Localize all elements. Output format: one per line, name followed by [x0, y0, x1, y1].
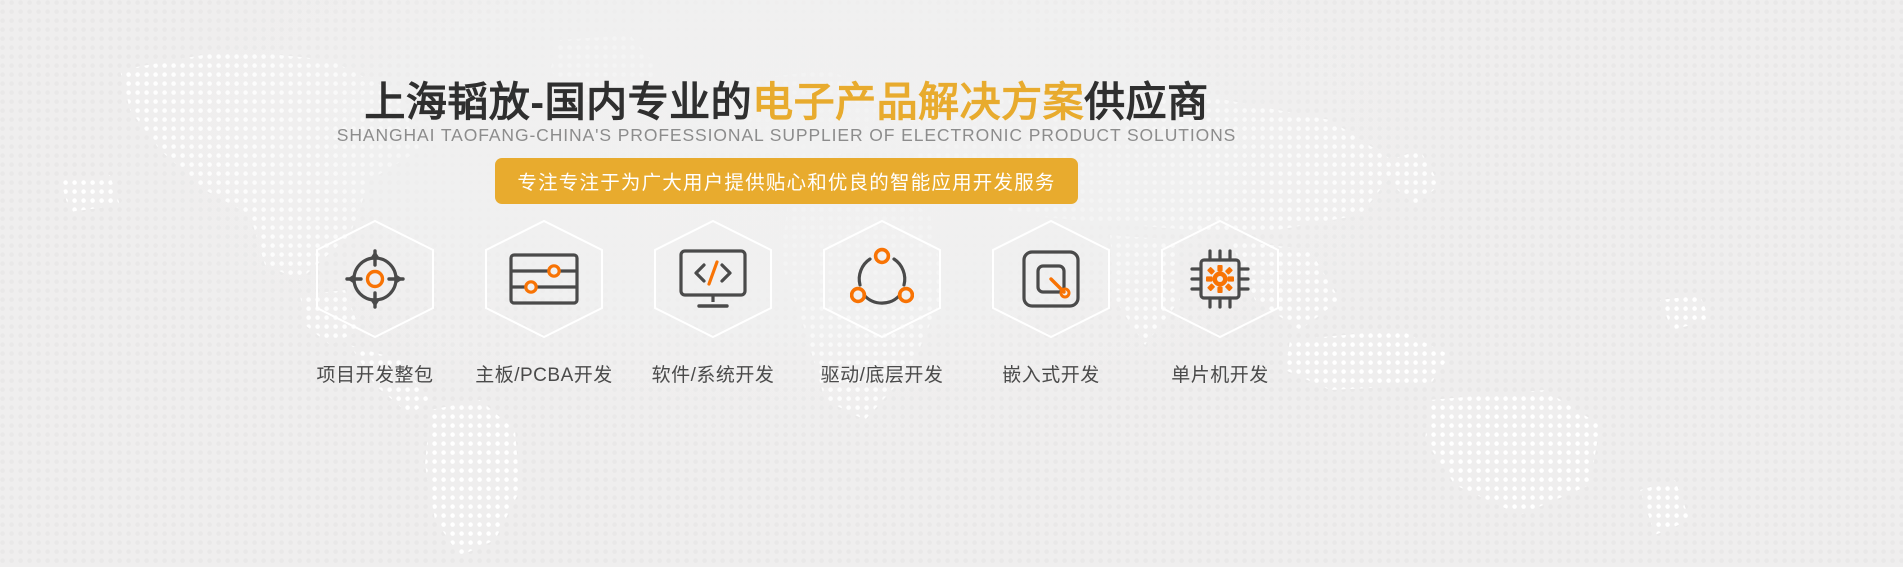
service-label: 单片机开发 [1171, 360, 1269, 387]
hexagon-frame [480, 218, 608, 340]
microcontroller-gear-icon [1187, 246, 1253, 312]
service-label: 项目开发整包 [316, 360, 433, 387]
hexagon-frame [818, 218, 946, 340]
circuit-board-icon [508, 251, 580, 307]
service-item-mcu[interactable]: 单片机开发 [1140, 218, 1300, 387]
tagline-badge: 专注专注于为广大用户提供贴心和优良的智能应用开发服务 [495, 158, 1077, 204]
headline-part-1: 上海韬放-国内专业的 [364, 79, 752, 125]
hexagon-frame [311, 218, 439, 340]
service-item-pcba[interactable]: 主板/PCBA开发 [464, 218, 624, 387]
subheadline: SHANGHAI TAOFANG-CHINA'S PROFESSIONAL SU… [0, 125, 1903, 146]
service-item-software[interactable]: 软件/系统开发 [633, 218, 793, 387]
service-item-driver[interactable]: 驱动/底层开发 [802, 218, 962, 387]
code-monitor-icon [677, 248, 749, 310]
tagline-badge-wrapper: 专注专注于为广大用户提供贴心和优良的智能应用开发服务 [0, 158, 1903, 204]
hexagon-frame [649, 218, 777, 340]
service-label: 嵌入式开发 [1002, 360, 1100, 387]
service-label: 主板/PCBA开发 [475, 360, 613, 387]
crosshair-target-icon [343, 247, 407, 311]
node-network-icon [850, 247, 914, 311]
service-label: 软件/系统开发 [652, 360, 775, 387]
headline: 上海韬放-国内专业的电子产品解决方案供应商 [0, 78, 1903, 126]
service-item-embedded[interactable]: 嵌入式开发 [971, 218, 1131, 387]
embedded-chip-link-icon [1020, 248, 1082, 310]
headline-highlight: 电子产品解决方案 [752, 79, 1084, 125]
hexagon-frame [1156, 218, 1284, 340]
service-list: 项目开发整包 主板/PCBA开发 [295, 218, 1300, 387]
service-item-project-package[interactable]: 项目开发整包 [295, 218, 455, 387]
service-label: 驱动/底层开发 [821, 360, 944, 387]
headline-part-3: 供应商 [1084, 79, 1209, 125]
hexagon-frame [987, 218, 1115, 340]
hero-banner: 上海韬放-国内专业的电子产品解决方案供应商 SHANGHAI TAOFANG-C… [0, 0, 1903, 567]
